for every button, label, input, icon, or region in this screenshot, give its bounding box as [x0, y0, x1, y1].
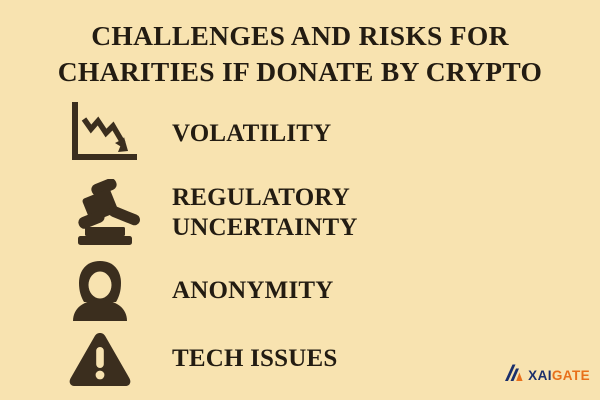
list-item-label: VOLATILITY: [172, 119, 600, 149]
list-item-label: ANONYMITY: [172, 276, 600, 306]
label-cell: ANONYMITY: [172, 276, 600, 306]
title-line-1: CHALLENGES AND RISKS FOR: [0, 18, 600, 54]
label-cell: REGULATORY UNCERTAINTY: [172, 183, 600, 243]
list-item-label-2: UNCERTAINTY: [172, 213, 600, 243]
list-item: REGULATORY UNCERTAINTY: [0, 174, 600, 252]
list-item: ANONYMITY: [0, 256, 600, 326]
infographic-canvas: CHALLENGES AND RISKS FOR CHARITIES IF DO…: [0, 0, 600, 400]
list-item: VOLATILITY: [0, 98, 600, 170]
gavel-icon: [68, 179, 142, 247]
anonymous-person-icon: [68, 259, 132, 323]
label-cell: VOLATILITY: [172, 119, 600, 149]
warning-triangle-icon: [68, 330, 132, 388]
xaigate-arrow-mark-icon: [503, 363, 525, 388]
title-line-2: CHARITIES IF DONATE BY CRYPTO: [0, 54, 600, 90]
icon-cell: [0, 259, 172, 323]
logo-wordmark: XAIGATE: [528, 369, 590, 383]
xaigate-logo[interactable]: XAIGATE: [503, 363, 590, 388]
list-item-label: REGULATORY: [172, 183, 600, 213]
page-title: CHALLENGES AND RISKS FOR CHARITIES IF DO…: [0, 18, 600, 90]
declining-chart-icon: [68, 102, 140, 166]
icon-cell: [0, 102, 172, 166]
icon-cell: [0, 330, 172, 388]
icon-cell: [0, 179, 172, 247]
logo-text-primary: XAI: [528, 368, 552, 383]
logo-text-accent: GATE: [552, 368, 590, 383]
